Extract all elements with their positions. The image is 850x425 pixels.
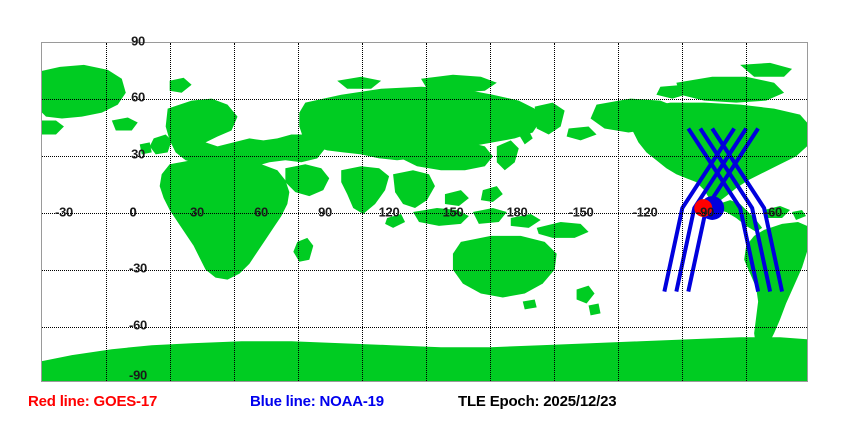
gridline-lon-270 <box>682 43 683 381</box>
lon-tick--150: -150 <box>569 205 594 220</box>
lon-tick-60: 60 <box>254 205 268 220</box>
lat-tick--60: -60 <box>129 318 147 333</box>
legend-noaa19: Blue line: NOAA-19 <box>250 392 384 412</box>
lat-tick-60: 60 <box>131 90 145 105</box>
world-map[interactable] <box>41 42 808 382</box>
gridline-lat-0 <box>42 213 807 214</box>
lon-tick--90: -90 <box>696 205 714 220</box>
lon-tick-150: 150 <box>443 205 464 220</box>
gridline-lon-0 <box>106 43 107 381</box>
gridline-lon-180 <box>490 43 491 381</box>
map-vector-layer <box>42 43 807 381</box>
lat-tick--30: -30 <box>129 261 147 276</box>
lon-tick--60: -60 <box>764 205 782 220</box>
gridline-lon-60 <box>234 43 235 381</box>
legend-tle-epoch: TLE Epoch: 2025/12/23 <box>458 392 616 412</box>
satellite-tracker-page: -30 0 30 60 90 120 150 180 -150 -120 -90… <box>0 0 850 425</box>
lon-tick--120: -120 <box>633 205 658 220</box>
gridline-lat-m60 <box>42 327 807 328</box>
lat-tick-0: 0 <box>130 205 137 220</box>
legend-goes17: Red line: GOES-17 <box>28 392 157 412</box>
gridline-lon-150 <box>426 43 427 381</box>
lon-tick-90: 90 <box>318 205 332 220</box>
lon-tick-30: 30 <box>190 205 204 220</box>
lat-tick--90: -90 <box>129 368 147 383</box>
map-canvas <box>42 43 807 381</box>
gridline-lon-240 <box>618 43 619 381</box>
gridline-lon-120 <box>362 43 363 381</box>
lon-tick-120: 120 <box>379 205 400 220</box>
gridline-lon-210 <box>554 43 555 381</box>
gridline-lat-60 <box>42 99 807 100</box>
lon-tick-180: 180 <box>507 205 528 220</box>
gridline-lon-300 <box>746 43 747 381</box>
gridline-lat-30 <box>42 156 807 157</box>
lon-tick--30: -30 <box>55 205 73 220</box>
gridline-lon-90 <box>298 43 299 381</box>
gridline-lat-m30 <box>42 270 807 271</box>
lat-tick-30: 30 <box>131 147 145 162</box>
gridline-lon-30 <box>170 43 171 381</box>
lat-tick-90: 90 <box>131 34 145 49</box>
legend: Red line: GOES-17 Blue line: NOAA-19 TLE… <box>0 392 850 422</box>
